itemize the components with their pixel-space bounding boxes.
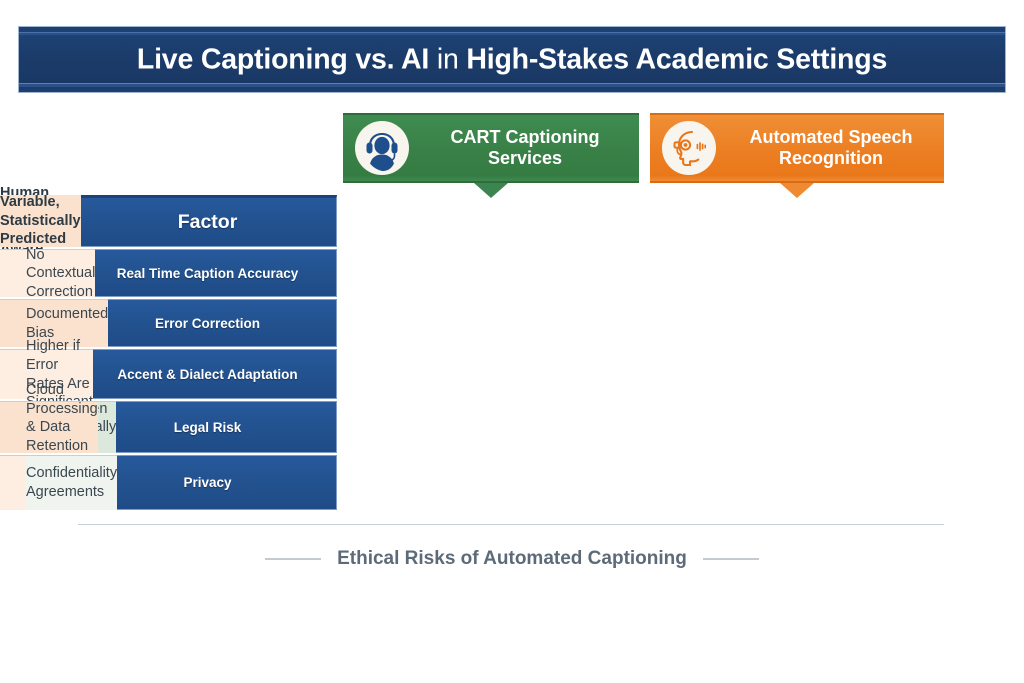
title-banner: Live Captioning vs. AI in High-Stakes Ac… (18, 26, 1006, 93)
banner-top-rule (19, 32, 1005, 35)
column-header-cart[interactable]: CART Captioning Services (343, 113, 639, 183)
table-cell-asr-0: Variable, Statistically Predicted (0, 195, 81, 247)
page-title-part-2: High-Stakes Academic Settings (466, 43, 887, 75)
cart-column-pointer (474, 183, 508, 198)
banner-bottom-rule (19, 83, 1005, 87)
column-header-cart-label: CART Captioning Services (417, 127, 639, 169)
page-title: Live Captioning vs. AI in High-Stakes Ac… (19, 43, 1005, 76)
column-header-asr[interactable]: Automated Speech Recognition (650, 113, 944, 183)
footer-dash-right (703, 558, 759, 560)
page-title-connector: in (429, 43, 466, 75)
footer-dash-left (265, 558, 321, 560)
table-row-factor-3: Accent & Dialect Adaptation (78, 349, 337, 399)
table-row-factor-1: Real Time Caption Accuracy (78, 249, 337, 297)
footer-caption-label: Ethical Risks of Automated Captioning (337, 548, 687, 570)
footer-divider (78, 524, 944, 525)
page-title-part-1: Live Captioning vs. AI (137, 43, 429, 75)
table-cell-asr-5 (0, 455, 26, 510)
table-cell-asr-4: Cloud Processing & Data Retention Risks (0, 401, 98, 453)
table-row-factor-header: Factor (78, 195, 337, 247)
table-row-factor-4: Legal Risk (78, 401, 337, 453)
asr-column-pointer (780, 183, 814, 198)
head-profile-soundwave-icon (662, 121, 716, 175)
infographic-page: Live Captioning vs. AI in High-Stakes Ac… (0, 0, 1024, 683)
table-row-factor-2: Error Correction (78, 299, 337, 347)
table-cell-asr-1: No Contextual Correction (0, 249, 95, 297)
headset-operator-icon (355, 121, 409, 175)
footer-caption: Ethical Risks of Automated Captioning (0, 548, 1024, 570)
column-header-asr-label: Automated Speech Recognition (724, 127, 944, 169)
